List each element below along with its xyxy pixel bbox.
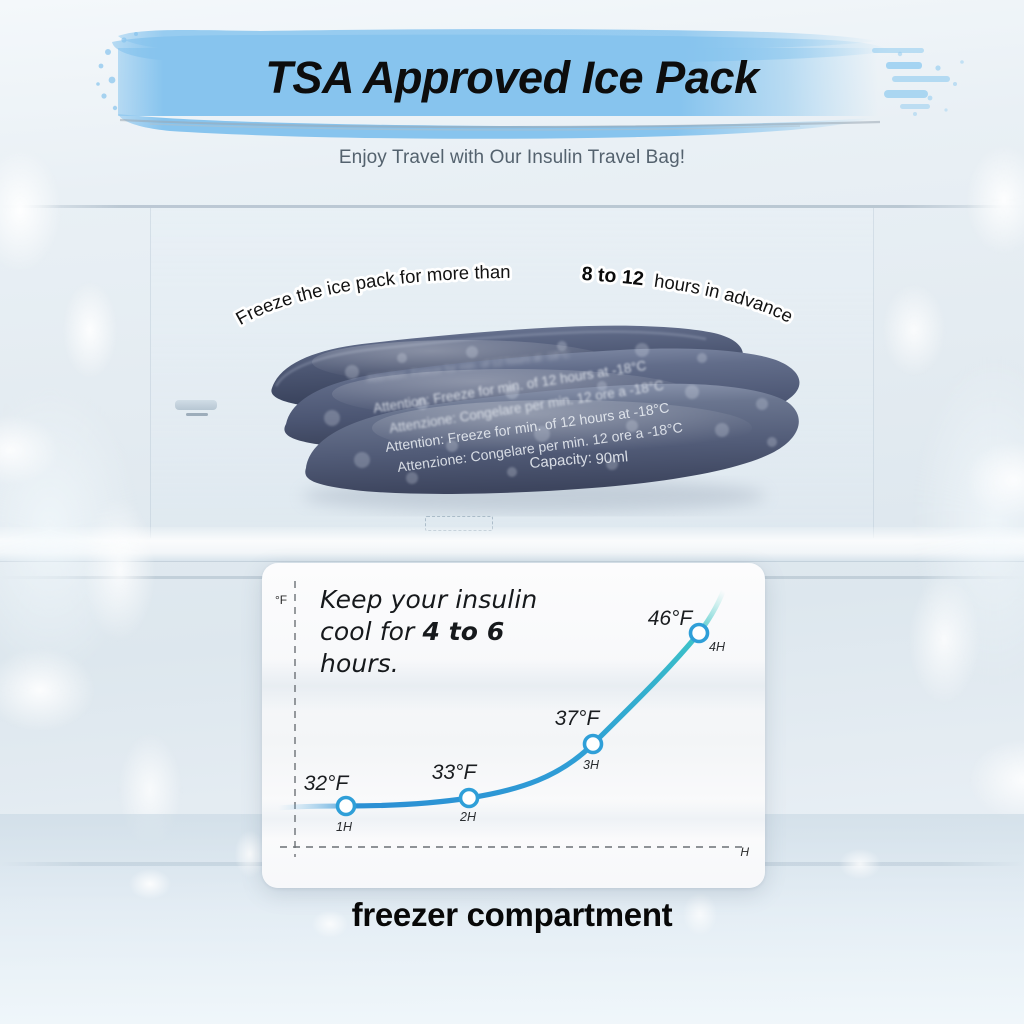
chart-label-tick-1h: 1H [336, 820, 353, 834]
chart-label-value-2h: 33°F [432, 761, 478, 784]
ice-pack-product-image: Attention: Freeze for min. of 12 hours a… [262, 300, 807, 515]
frost-texture-right [824, 120, 1024, 920]
arc-caption-highlight: 8 to 12 [581, 263, 645, 290]
chart-label-value-4h: 46°F [648, 607, 694, 630]
chart-label-value-3h: 37°F [555, 707, 601, 730]
chart-label-tick-3h: 3H [583, 758, 600, 772]
chart-label-tick-4h: 4H [709, 640, 726, 654]
infographic-canvas: TSA Approved Ice Pack Enjoy Travel with … [0, 0, 1024, 1024]
freezer-wall-knob [175, 400, 217, 410]
page-subtitle: Enjoy Travel with Our Insulin Travel Bag… [0, 147, 1024, 169]
pack-capacity-value: 90ml [595, 448, 629, 468]
chart-point-3h [585, 736, 602, 753]
footer-caption: freezer compartment [0, 896, 1024, 934]
temperature-chart-card: °F H Keep your insulin cool for 4 to 6 h… [262, 563, 765, 888]
freezer-shelf-band [0, 527, 1024, 561]
freezer-wall-knob-slot [186, 413, 208, 416]
chart-point-1h [338, 798, 355, 815]
frost-texture-left [0, 150, 240, 910]
chart-point-2h [461, 790, 478, 807]
chart-label-tick-2h: 2H [459, 810, 477, 824]
arc-text2: 8 to 12 [581, 263, 645, 290]
chart-point-4h [691, 625, 708, 642]
freezer-front-tag [425, 516, 493, 531]
freezer-shelf-line-top [0, 205, 1024, 208]
chart-label-value-1h: 32°F [304, 772, 350, 795]
page-title: TSA Approved Ice Pack [0, 52, 1024, 104]
chart-line-series [346, 633, 699, 806]
temperature-line-chart: 32°F 33°F 37°F 46°F 1H 2H 3H 4H [262, 563, 765, 888]
